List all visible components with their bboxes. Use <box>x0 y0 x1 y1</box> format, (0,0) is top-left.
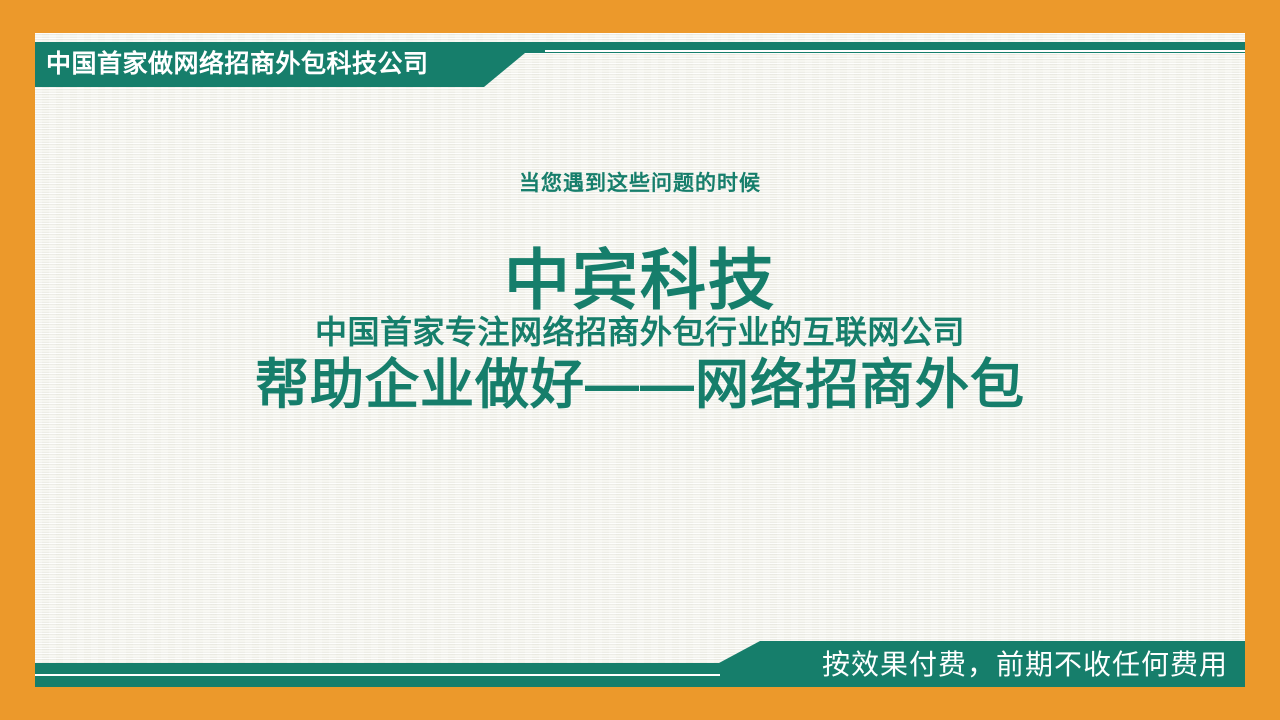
tagline-text: 中国首家专注网络招商外包行业的互联网公司 <box>35 316 1245 350</box>
footer-hairline-divider <box>35 674 720 676</box>
footer-banner-label: 按效果付费，前期不收任何费用 <box>822 641 1228 687</box>
brand-title: 中宾科技 <box>35 247 1245 314</box>
header-banner-label: 中国首家做网络招商外包科技公司 <box>46 42 429 87</box>
eyebrow-text: 当您遇到这些问题的时候 <box>35 167 1245 197</box>
header-hairline-divider <box>545 50 1245 52</box>
slide-canvas: 中国首家做网络招商外包科技公司 当您遇到这些问题的时候 中宾科技 中国首家专注网… <box>35 33 1245 687</box>
slide-frame: 中国首家做网络招商外包科技公司 当您遇到这些问题的时候 中宾科技 中国首家专注网… <box>0 0 1280 720</box>
promise-headline: 帮助企业做好——网络招商外包 <box>35 357 1245 414</box>
